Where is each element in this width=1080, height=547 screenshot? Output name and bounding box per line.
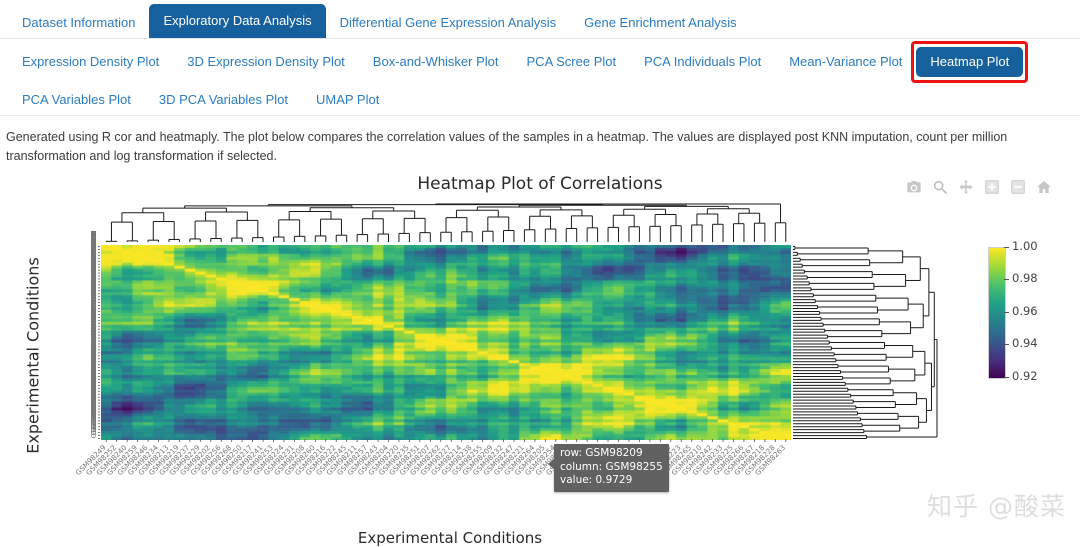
right-dendrogram [791,245,943,440]
tab-dataset-information[interactable]: Dataset Information [8,8,149,38]
tab-mean-variance-plot[interactable]: Mean-Variance Plot [775,47,916,77]
zoom-out-icon[interactable] [1010,179,1026,195]
colorbar-tick-mark [1004,247,1009,248]
plotly-modebar [906,179,1052,195]
top-dendrogram [101,199,791,245]
tab-exploratory-data-analysis[interactable]: Exploratory Data Analysis [149,4,325,38]
colorbar-ticks: 1.000.980.960.940.92 [1004,237,1056,387]
zoom-in-icon[interactable] [984,179,1000,195]
tooltip-value: value: 0.9729 [560,474,663,488]
tertiary-tab-bar: PCA Variables Plot 3D PCA Variables Plot… [0,77,1080,116]
colorbar-tick-label: 0.94 [1012,336,1038,350]
tab-pca-scree-plot[interactable]: PCA Scree Plot [513,47,631,77]
heatmap-canvas[interactable] [101,245,791,440]
camera-icon[interactable] [906,179,922,195]
hover-tooltip: row: GSM98209 column: GSM98255 value: 0.… [554,444,669,493]
tab-gene-enrichment-analysis[interactable]: Gene Enrichment Analysis [570,8,750,38]
y-axis-tick-labels: GSM98249GSM98252GSM98240GSM98259GSM98246… [28,231,100,453]
pan-arrows-icon[interactable] [958,179,974,195]
tab-box-and-whisker-plot[interactable]: Box-and-Whisker Plot [359,47,513,77]
tab-differential-gene-expression-analysis[interactable]: Differential Gene Expression Analysis [326,8,571,38]
colorbar-tick-label: 1.00 [1012,239,1038,253]
colorbar-tick-label: 0.96 [1012,304,1038,318]
tab-3d-pca-variables-plot[interactable]: 3D PCA Variables Plot [145,85,302,115]
colorbar-tick-mark [1004,312,1009,313]
colorbar-tick-label: 0.92 [1012,369,1038,383]
tab-pca-variables-plot[interactable]: PCA Variables Plot [8,85,145,115]
tab-expression-density-plot[interactable]: Expression Density Plot [8,47,173,77]
home-reset-icon[interactable] [1036,179,1052,195]
svg-text:GSM98263: GSM98263 [89,399,98,438]
tab-heatmap-plot-label: Heatmap Plot [930,54,1009,69]
colorbar-tick-mark [1004,279,1009,280]
tab-umap-plot[interactable]: UMAP Plot [302,85,393,115]
tooltip-row: row: GSM98209 [560,447,663,461]
primary-tab-bar: Dataset Information Exploratory Data Ana… [0,0,1080,39]
colorbar-tick-label: 0.98 [1012,271,1038,285]
watermark: 知乎 @酸菜 [927,487,1066,523]
tooltip-arrow [548,458,555,470]
tooltip-column: column: GSM98255 [560,461,663,475]
tab-3d-expression-density-plot[interactable]: 3D Expression Density Plot [173,47,359,77]
heatmap-plot-container: Heatmap Plot of Correlations Experimenta… [0,171,1080,543]
plot-description: Generated using R cor and heatmaply. The… [0,116,1028,171]
zoom-magnifier-icon[interactable] [932,179,948,195]
tab-heatmap-plot[interactable]: Heatmap Plot [916,47,1023,77]
colorbar-tick-mark [1004,344,1009,345]
secondary-tab-bar: Expression Density Plot 3D Expression De… [0,39,1080,77]
tab-pca-individuals-plot[interactable]: PCA Individuals Plot [630,47,775,77]
x-axis-title: Experimental Conditions [110,529,790,547]
x-axis-tick-labels: GSM98249GSM98252GSM98240GSM98259GSM98246… [58,439,798,501]
colorbar-tick-mark [1004,377,1009,378]
